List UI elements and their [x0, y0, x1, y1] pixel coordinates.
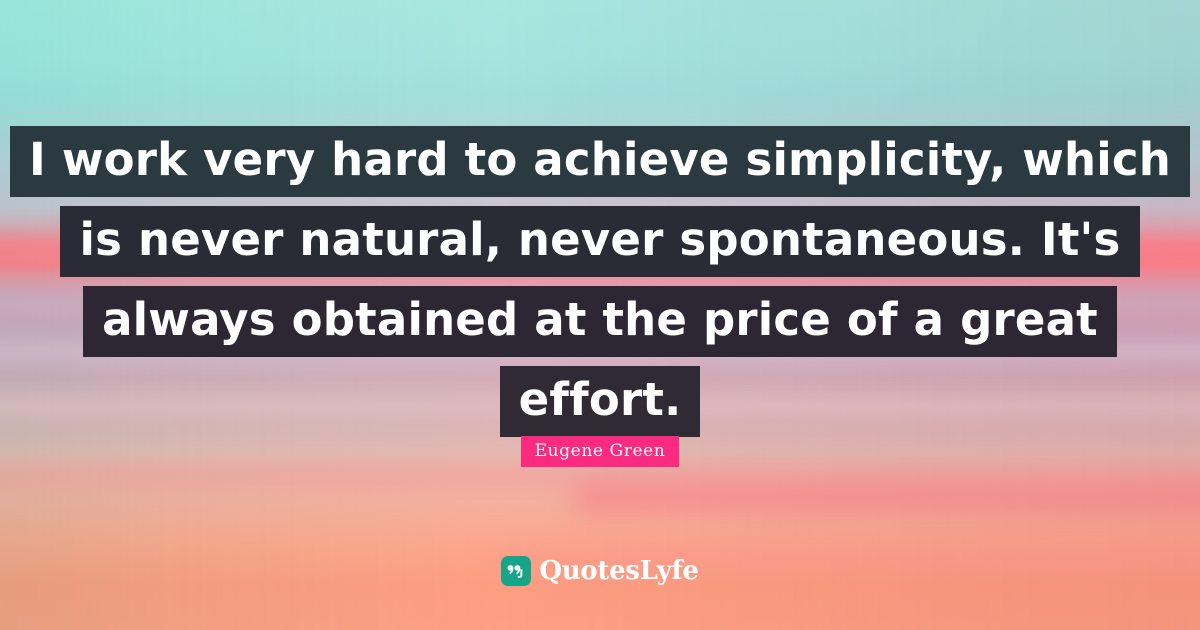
background-streak-rose — [576, 479, 1200, 517]
quote-poster: I work very hard to achieve simplicity, … — [0, 0, 1200, 630]
quote-line: I work very hard to achieve simplicity, … — [0, 126, 1200, 197]
quote-line: always obtained at the price of a great — [0, 286, 1200, 357]
quote-line-text: is never natural, never spontaneous. It'… — [60, 206, 1139, 277]
quote-line-text: always obtained at the price of a great — [83, 286, 1117, 357]
quote-mark-icon — [501, 556, 531, 586]
quote-line-text: effort. — [500, 366, 701, 437]
author-name-badge: Eugene Green — [521, 436, 680, 467]
brand-logo: QuotesLyfe — [0, 556, 1200, 586]
brand-name-text: QuotesLyfe — [539, 558, 698, 584]
quote-line: is never natural, never spontaneous. It'… — [0, 206, 1200, 277]
author-attribution: Eugene Green — [0, 436, 1200, 467]
quote-line: effort. — [0, 366, 1200, 437]
quote-text-block: I work very hard to achieve simplicity, … — [0, 126, 1200, 446]
quote-line-text: I work very hard to achieve simplicity, … — [10, 126, 1190, 197]
